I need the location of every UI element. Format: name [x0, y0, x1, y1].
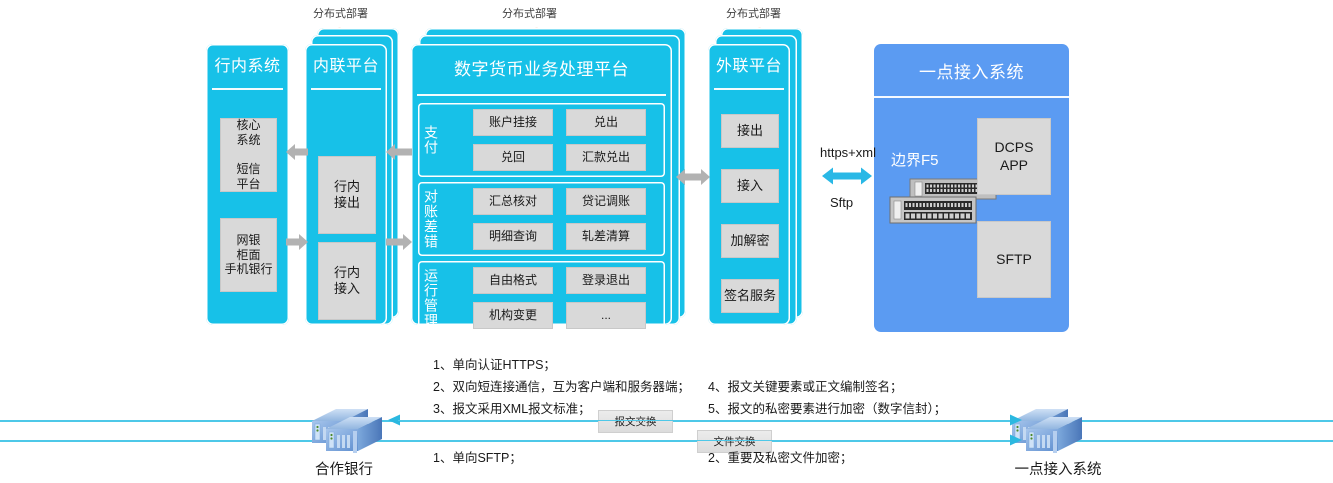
group-operations: 运行管理 自由格式 登录退出 机构变更 ... [418, 261, 665, 335]
server-label-single-access: 一点接入系统 [993, 458, 1123, 479]
group-payment: 支付 账户挂接 兑出 兑回 汇款兑出 [418, 103, 665, 177]
box-intranet-in[interactable]: 行内 接入 [318, 242, 376, 320]
arrowhead-right-file [1008, 433, 1022, 447]
panel-dcep-platform: 数字货币业务处理平台 支付 账户挂接 兑出 兑回 汇款兑出 对账差错 汇总核对 … [411, 44, 672, 325]
panel-title-bank-internal: 行内系统 [206, 58, 289, 76]
note-message-left-3: 3、报文采用XML报文标准； [433, 398, 591, 417]
box-account-link[interactable]: 账户挂接 [473, 109, 553, 136]
server-label-partner-bank: 合作银行 [296, 458, 392, 479]
box-intranet-out[interactable]: 行内 接出 [318, 156, 376, 234]
arrow-bidirectional-external-to-access [822, 165, 872, 187]
box-encrypt-decrypt[interactable]: 加解密 [721, 224, 779, 258]
note-message-right-5: 5、报文的私密要素进行加密（数字信封）； [708, 398, 946, 417]
box-external-out[interactable]: 接出 [721, 114, 779, 148]
box-exchange-back[interactable]: 兑回 [473, 144, 553, 171]
arrow-bidirectional-dcep-to-external [676, 167, 710, 187]
server-icon-partner-bank [300, 405, 386, 457]
box-remit-exchange-out[interactable]: 汇款兑出 [566, 144, 646, 171]
arrow-right-ebank-to-intranet [286, 232, 308, 252]
note-message-left-2: 2、双向短连接通信，互为客户端和服务器端； [433, 376, 690, 395]
box-netting-settlement[interactable]: 轧差清算 [566, 223, 646, 250]
f5-boundary-label: 边界F5 [891, 149, 939, 170]
box-detail-query[interactable]: 明细查询 [473, 223, 553, 250]
box-free-format[interactable]: 自由格式 [473, 267, 553, 294]
arrowhead-right-message [1008, 413, 1022, 427]
box-signature-service[interactable]: 签名服务 [721, 279, 779, 313]
panel-single-access-system: 一点接入系统 边界F5 [874, 44, 1069, 332]
box-more[interactable]: ... [566, 302, 646, 329]
panel-title-dcep: 数字货币业务处理平台 [411, 61, 672, 80]
connector-line-file-exchange [388, 440, 1010, 441]
box-summary-check[interactable]: 汇总核对 [473, 188, 553, 215]
box-credit-adjust[interactable]: 贷记调账 [566, 188, 646, 215]
panel-title-single-access: 一点接入系统 [874, 64, 1069, 83]
box-dcps-app[interactable]: DCPS APP [977, 118, 1051, 195]
group-label-reconciliation: 对账差错 [418, 182, 444, 256]
connector-label-https-xml: https+xml [820, 145, 876, 160]
connector-label-sftp: Sftp [830, 195, 853, 210]
group-reconciliation: 对账差错 汇总核对 贷记调账 明细查询 轧差清算 [418, 182, 665, 256]
box-login-logout[interactable]: 登录退出 [566, 267, 646, 294]
group-label-payment: 支付 [418, 103, 444, 177]
group-label-operations: 运行管理 [418, 261, 444, 335]
exchange-label-message: 报文交换 [598, 410, 673, 433]
box-core-system[interactable]: 核心 系统 短信 平台 [220, 118, 277, 192]
box-exchange-out[interactable]: 兑出 [566, 109, 646, 136]
arrow-left-core-to-intranet [286, 142, 308, 162]
panel-title-external: 外联平台 [708, 58, 790, 76]
note-message-left-1: 1、单向认证HTTPS； [433, 354, 556, 373]
box-external-in[interactable]: 接入 [721, 169, 779, 203]
box-sftp[interactable]: SFTP [977, 221, 1051, 298]
connector-line-message-exchange [398, 420, 1010, 421]
note-file-right-2: 2、重要及私密文件加密； [708, 447, 852, 466]
panel-intranet-platform: 内联平台 行内 接出 行内 接入 [305, 44, 387, 325]
panel-title-intranet: 内联平台 [305, 58, 387, 76]
panel-bank-internal-system: 行内系统 核心 系统 短信 平台 网银 柜面 手机银行 [206, 44, 289, 325]
box-org-change[interactable]: 机构变更 [473, 302, 553, 329]
arrow-left-intranet-to-dcep [386, 142, 412, 162]
box-ebank-counter-mobile[interactable]: 网银 柜面 手机银行 [220, 218, 277, 292]
arrow-right-intranet-to-dcep [386, 232, 412, 252]
note-file-left-1: 1、单向SFTP； [433, 447, 522, 466]
note-message-right-4: 4、报文关键要素或正文编制签名； [708, 376, 902, 395]
panel-external-platform: 外联平台 接出 接入 加解密 签名服务 [708, 44, 790, 325]
